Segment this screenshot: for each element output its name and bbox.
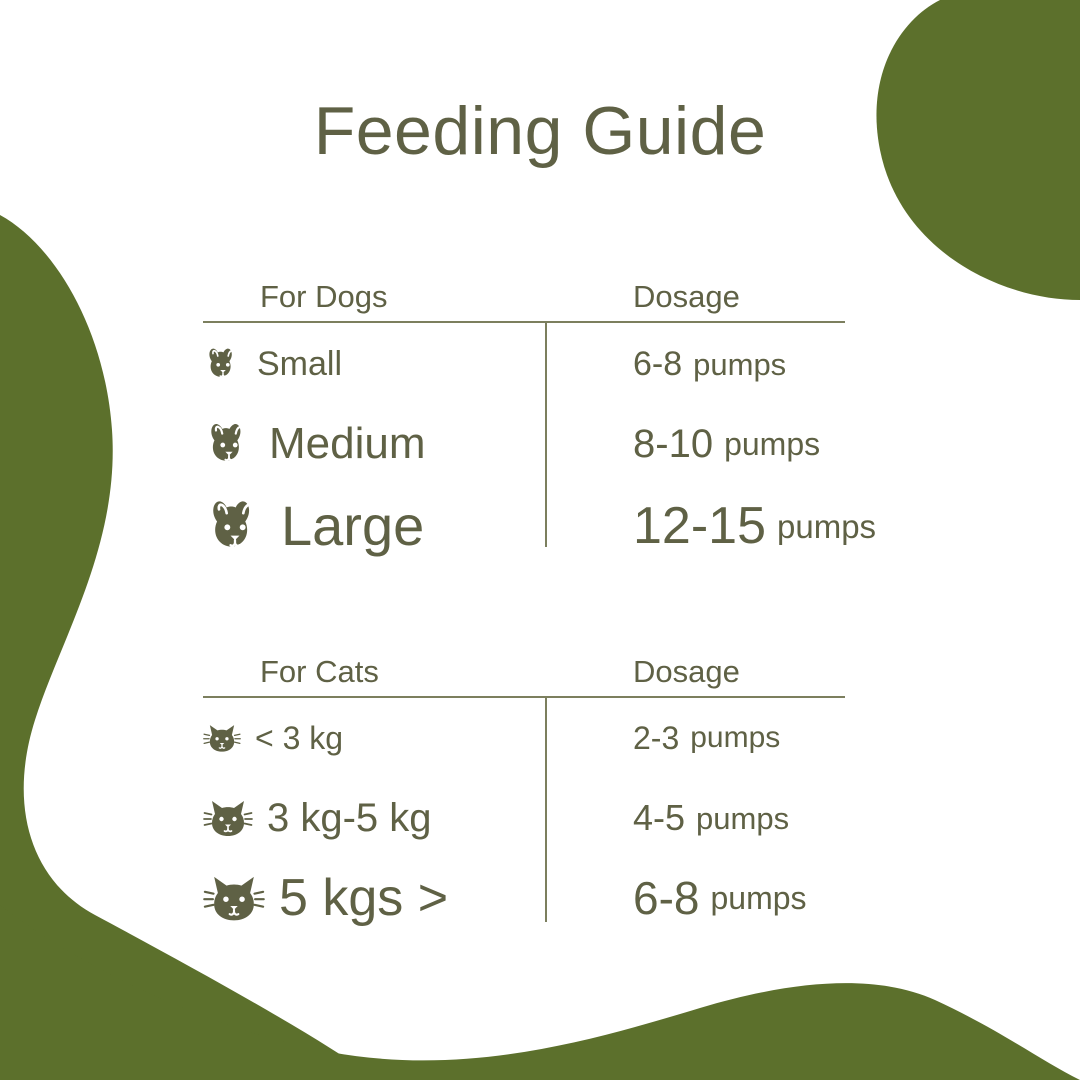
dog-dosage-cell: 6-8pumps — [633, 335, 786, 393]
cats-header-animal: For Cats — [260, 654, 379, 690]
cat-face-icon — [203, 719, 241, 757]
cat-face-icon — [203, 793, 253, 843]
cats-table-header: For Cats Dosage — [203, 630, 845, 696]
cats-feeding-table: For Cats Dosage < 3 kg2-3pumps3 kg-5 kg4… — [203, 630, 845, 696]
dog-dosage-unit: pumps — [693, 349, 786, 380]
cat-dosage-amount: 2-3 — [633, 722, 679, 754]
dog-dosage-unit: pumps — [777, 510, 876, 543]
page-title: Feeding Guide — [0, 92, 1080, 170]
dogs-table-header: For Dogs Dosage — [203, 255, 845, 321]
table-row: 5 kgs >6-8pumps — [203, 858, 845, 938]
dog-face-icon — [203, 418, 255, 470]
dog-size-cell: Small — [203, 335, 342, 393]
dog-face-icon — [203, 494, 267, 558]
cats-header-dosage: Dosage — [633, 654, 740, 690]
cat-dosage-cell: 6-8pumps — [633, 858, 807, 938]
cat-size-label: < 3 kg — [255, 722, 343, 754]
cat-size-cell: 5 kgs > — [203, 858, 448, 938]
table-row: Medium8-10pumps — [203, 409, 845, 479]
dog-size-label: Medium — [269, 422, 426, 466]
dogs-feeding-table: For Dogs Dosage Small6-8pumpsMedium8-10p… — [203, 255, 845, 321]
cat-dosage-unit: pumps — [710, 882, 806, 914]
cat-face-icon — [203, 867, 265, 929]
dog-size-label: Small — [257, 347, 342, 381]
table-row: Small6-8pumps — [203, 335, 845, 393]
dog-dosage-cell: 12-15pumps — [633, 485, 876, 567]
cat-size-label: 3 kg-5 kg — [267, 798, 432, 838]
cat-dosage-unit: pumps — [690, 723, 780, 753]
cat-size-cell: 3 kg-5 kg — [203, 784, 432, 852]
dog-dosage-unit: pumps — [724, 428, 820, 460]
cat-size-label: 5 kgs > — [279, 872, 448, 924]
dog-dosage-amount: 6-8 — [633, 347, 682, 381]
dog-size-label: Large — [281, 498, 424, 554]
cat-dosage-amount: 6-8 — [633, 875, 699, 921]
feeding-guide-infographic: Feeding Guide For Dogs Dosage Small6-8pu… — [0, 0, 1080, 1080]
dog-dosage-amount: 8-10 — [633, 424, 713, 464]
cat-dosage-unit: pumps — [696, 803, 789, 834]
dogs-header-dosage: Dosage — [633, 279, 740, 315]
dog-size-cell: Medium — [203, 409, 426, 479]
dog-dosage-amount: 12-15 — [633, 500, 766, 552]
dogs-header-rule — [203, 321, 845, 323]
dogs-header-animal: For Dogs — [260, 279, 387, 315]
cats-header-rule — [203, 696, 845, 698]
table-row: 3 kg-5 kg4-5pumps — [203, 784, 845, 852]
dog-face-icon — [203, 344, 243, 384]
dog-dosage-cell: 8-10pumps — [633, 409, 820, 479]
cat-dosage-amount: 4-5 — [633, 800, 685, 836]
table-row: Large12-15pumps — [203, 485, 845, 567]
table-row: < 3 kg2-3pumps — [203, 710, 845, 766]
cat-size-cell: < 3 kg — [203, 710, 343, 766]
cat-dosage-cell: 2-3pumps — [633, 710, 780, 766]
dog-size-cell: Large — [203, 485, 424, 567]
cat-dosage-cell: 4-5pumps — [633, 784, 789, 852]
